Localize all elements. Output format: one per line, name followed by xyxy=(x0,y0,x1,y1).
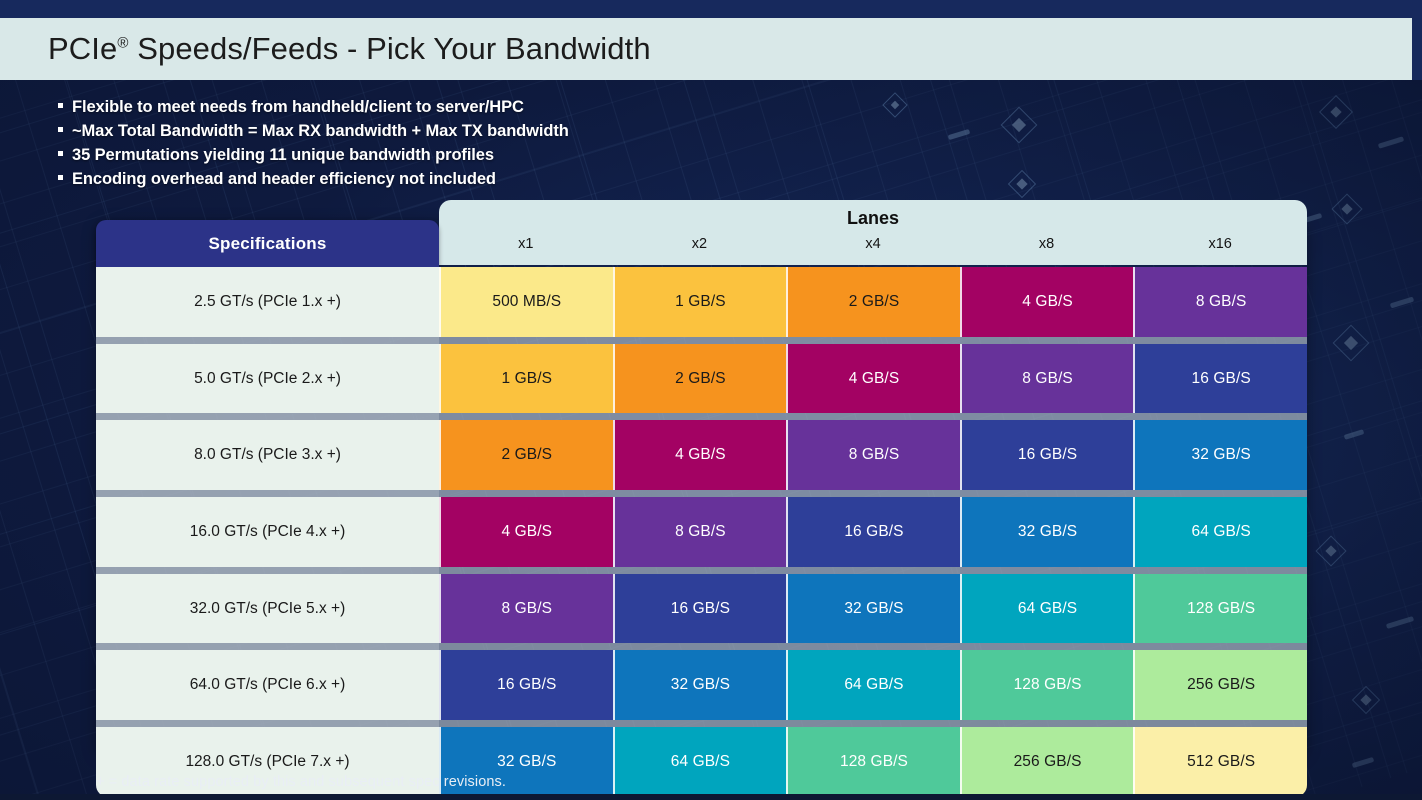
spec-cell: 32.0 GT/s (PCIe 5.x +) xyxy=(96,574,439,644)
bandwidth-table: Lanes x1 x2 x4 x8 x16 Specifications 2.5… xyxy=(96,200,1307,755)
specifications-header: Specifications xyxy=(96,220,439,267)
row-divider-data xyxy=(439,720,1307,727)
table-row: 8.0 GT/s (PCIe 3.x +)2 GB/S4 GB/S8 GB/S1… xyxy=(96,420,1307,490)
bandwidth-cell: 512 GB/S xyxy=(1133,727,1307,797)
title-main: PCIe xyxy=(48,31,117,66)
bandwidth-cell: 64 GB/S xyxy=(613,727,787,797)
bandwidth-cell: 4 GB/S xyxy=(786,344,960,414)
bandwidth-cell: 16 GB/S xyxy=(1133,344,1307,414)
bullet-text: Encoding overhead and header efficiency … xyxy=(72,167,496,191)
row-divider xyxy=(96,337,1307,344)
footnote: + = data rate supported by this and subs… xyxy=(96,774,506,790)
row-divider-data xyxy=(439,337,1307,344)
table-row: 32.0 GT/s (PCIe 5.x +)8 GB/S16 GB/S32 GB… xyxy=(96,574,1307,644)
bandwidth-cell: 16 GB/S xyxy=(613,574,787,644)
bandwidth-cell: 500 MB/S xyxy=(439,267,613,337)
list-item: ~Max Total Bandwidth = Max RX bandwidth … xyxy=(58,119,858,143)
row-divider xyxy=(96,567,1307,574)
list-item: Flexible to meet needs from handheld/cli… xyxy=(58,95,858,119)
bandwidth-cell: 64 GB/S xyxy=(960,574,1134,644)
row-divider-spec xyxy=(96,337,439,344)
lane-label-row: x1 x2 x4 x8 x16 xyxy=(439,236,1307,252)
bandwidth-cell: 32 GB/S xyxy=(613,650,787,720)
lanes-header-panel: Lanes x1 x2 x4 x8 x16 xyxy=(439,200,1307,265)
bandwidth-cell: 4 GB/S xyxy=(439,497,613,567)
spec-cell: 2.5 GT/s (PCIe 1.x +) xyxy=(96,267,439,337)
row-divider-data xyxy=(439,490,1307,497)
title-band: PCIe® Speeds/Feeds - Pick Your Bandwidth xyxy=(0,18,1412,80)
bandwidth-cell: 32 GB/S xyxy=(786,574,960,644)
bullet-list: Flexible to meet needs from handheld/cli… xyxy=(58,95,858,191)
bullet-square-icon xyxy=(58,103,63,108)
title-band-right-edge xyxy=(1412,18,1422,80)
bandwidth-cell: 16 GB/S xyxy=(960,420,1134,490)
specifications-header-label: Specifications xyxy=(208,234,326,254)
column-header-x8: x8 xyxy=(960,236,1134,252)
column-header-x4: x4 xyxy=(786,236,960,252)
bullet-square-icon xyxy=(58,151,63,156)
row-divider-data xyxy=(439,413,1307,420)
bandwidth-cell: 16 GB/S xyxy=(786,497,960,567)
spec-cell: 64.0 GT/s (PCIe 6.x +) xyxy=(96,650,439,720)
bullet-square-icon xyxy=(58,175,63,180)
row-divider-spec xyxy=(96,567,439,574)
row-divider xyxy=(96,720,1307,727)
bandwidth-cell: 8 GB/S xyxy=(960,344,1134,414)
bandwidth-cell: 128 GB/S xyxy=(1133,574,1307,644)
title-rest: Speeds/Feeds - Pick Your Bandwidth xyxy=(128,31,650,66)
bandwidth-cell: 8 GB/S xyxy=(439,574,613,644)
bandwidth-cell: 2 GB/S xyxy=(786,267,960,337)
top-edge-bar xyxy=(0,0,1422,18)
bullet-text: Flexible to meet needs from handheld/cli… xyxy=(72,95,524,119)
list-item: Encoding overhead and header efficiency … xyxy=(58,167,858,191)
bandwidth-cell: 1 GB/S xyxy=(439,344,613,414)
table-row: 16.0 GT/s (PCIe 4.x +)4 GB/S8 GB/S16 GB/… xyxy=(96,497,1307,567)
row-divider xyxy=(96,490,1307,497)
row-divider-spec xyxy=(96,720,439,727)
row-divider xyxy=(96,413,1307,420)
bandwidth-cell: 4 GB/S xyxy=(613,420,787,490)
row-divider-spec xyxy=(96,643,439,650)
row-divider-spec xyxy=(96,413,439,420)
bandwidth-cell: 2 GB/S xyxy=(439,420,613,490)
bullet-square-icon xyxy=(58,127,63,132)
column-header-x1: x1 xyxy=(439,236,613,252)
registered-trademark-icon: ® xyxy=(117,35,128,52)
bullet-text: ~Max Total Bandwidth = Max RX bandwidth … xyxy=(72,119,569,143)
table-body: 2.5 GT/s (PCIe 1.x +)500 MB/S1 GB/S2 GB/… xyxy=(96,267,1307,755)
slide-canvas: PCIe® Speeds/Feeds - Pick Your Bandwidth… xyxy=(0,0,1422,800)
row-divider xyxy=(96,643,1307,650)
bandwidth-cell: 2 GB/S xyxy=(613,344,787,414)
page-title: PCIe® Speeds/Feeds - Pick Your Bandwidth xyxy=(48,31,651,67)
bandwidth-cell: 256 GB/S xyxy=(960,727,1134,797)
row-divider-data xyxy=(439,567,1307,574)
bottom-edge-bar xyxy=(0,794,1422,800)
bandwidth-cell: 256 GB/S xyxy=(1133,650,1307,720)
bandwidth-cell: 64 GB/S xyxy=(1133,497,1307,567)
bandwidth-cell: 128 GB/S xyxy=(786,727,960,797)
spec-cell: 8.0 GT/s (PCIe 3.x +) xyxy=(96,420,439,490)
table-row: 64.0 GT/s (PCIe 6.x +)16 GB/S32 GB/S64 G… xyxy=(96,650,1307,720)
table-row: 2.5 GT/s (PCIe 1.x +)500 MB/S1 GB/S2 GB/… xyxy=(96,267,1307,337)
bandwidth-cell: 128 GB/S xyxy=(960,650,1134,720)
column-header-x2: x2 xyxy=(613,236,787,252)
list-item: 35 Permutations yielding 11 unique bandw… xyxy=(58,143,858,167)
row-divider-spec xyxy=(96,490,439,497)
bandwidth-cell: 8 GB/S xyxy=(786,420,960,490)
bandwidth-cell: 8 GB/S xyxy=(613,497,787,567)
lanes-header-label: Lanes xyxy=(439,208,1307,229)
bandwidth-cell: 8 GB/S xyxy=(1133,267,1307,337)
bandwidth-cell: 64 GB/S xyxy=(786,650,960,720)
bandwidth-cell: 32 GB/S xyxy=(960,497,1134,567)
table-row: 5.0 GT/s (PCIe 2.x +)1 GB/S2 GB/S4 GB/S8… xyxy=(96,344,1307,414)
spec-cell: 16.0 GT/s (PCIe 4.x +) xyxy=(96,497,439,567)
bandwidth-cell: 16 GB/S xyxy=(439,650,613,720)
bullet-text: 35 Permutations yielding 11 unique bandw… xyxy=(72,143,494,167)
bandwidth-cell: 4 GB/S xyxy=(960,267,1134,337)
bandwidth-cell: 1 GB/S xyxy=(613,267,787,337)
row-divider-data xyxy=(439,643,1307,650)
spec-cell: 5.0 GT/s (PCIe 2.x +) xyxy=(96,344,439,414)
bandwidth-cell: 32 GB/S xyxy=(1133,420,1307,490)
column-header-x16: x16 xyxy=(1133,236,1307,252)
